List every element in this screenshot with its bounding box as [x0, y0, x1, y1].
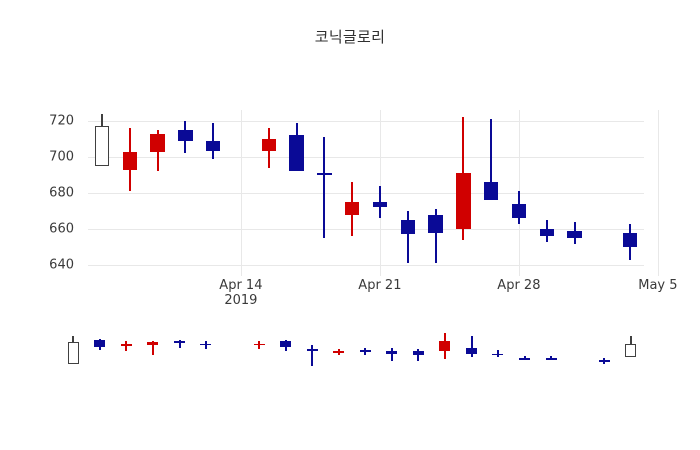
lower-candlestick-panel: [60, 320, 644, 376]
candle-body: [150, 134, 165, 152]
candle-body: [68, 342, 79, 363]
candle-body: [345, 202, 360, 215]
candle-body: [599, 360, 610, 362]
y-gridline: [88, 157, 644, 158]
candle-body: [178, 130, 193, 141]
candle-body: [262, 139, 277, 152]
candle-wick: [391, 348, 393, 361]
candle-body: [519, 358, 530, 360]
candle-body: [466, 348, 477, 354]
candle-body: [456, 173, 471, 229]
x-tick-label: Apr 28: [497, 278, 540, 293]
candle-body: [546, 358, 557, 360]
candle-body: [206, 141, 221, 152]
y-tick-label: 640: [49, 258, 74, 273]
candle-wick: [323, 137, 325, 238]
candle-wick: [471, 336, 473, 357]
page-title: 코닉글로리: [0, 26, 700, 47]
candle-body: [567, 231, 582, 238]
candle-body: [439, 341, 450, 351]
candle-body: [540, 229, 555, 236]
x-axis-labels: Apr 142019Apr 21Apr 28May 5: [88, 278, 644, 314]
candle-body: [95, 126, 110, 166]
candlestick-chart: 코닉글로리 640660680700720 Apr 142019Apr 21Ap…: [0, 0, 700, 450]
candle-body: [289, 135, 304, 171]
y-tick-label: 700: [49, 149, 74, 164]
candle-body: [123, 152, 138, 170]
candle-body: [147, 342, 158, 344]
candle-body: [413, 351, 424, 354]
candle-body: [484, 182, 499, 200]
main-price-panel: [88, 110, 644, 276]
candle-body: [307, 349, 318, 351]
candle-wick: [205, 341, 207, 349]
y-gridline: [88, 121, 644, 122]
candle-body: [623, 233, 638, 247]
y-gridline: [88, 193, 644, 194]
x-gridline: [658, 110, 659, 276]
candle-body: [360, 350, 371, 352]
candle-body: [174, 341, 185, 343]
candle-body: [373, 202, 388, 207]
y-axis-labels: 640660680700720: [0, 110, 82, 276]
y-tick-label: 720: [49, 113, 74, 128]
candle-body: [200, 344, 211, 346]
candle-body: [94, 340, 105, 347]
candle-body: [317, 173, 332, 175]
candle-body: [333, 351, 344, 353]
candle-wick: [311, 345, 313, 366]
candle-body: [401, 220, 416, 234]
candle-body: [492, 354, 503, 356]
candle-body: [254, 344, 265, 346]
y-tick-label: 660: [49, 222, 74, 237]
candle-body: [428, 215, 443, 233]
candle-wick: [258, 341, 260, 349]
x-tick-label: Apr 142019: [219, 278, 262, 308]
x-tick-label: Apr 21: [358, 278, 401, 293]
y-gridline: [88, 265, 644, 266]
candle-body: [625, 344, 636, 357]
candle-body: [386, 351, 397, 353]
x-tick-label: May 5: [638, 278, 677, 293]
y-gridline: [88, 229, 644, 230]
candle-wick: [407, 211, 409, 263]
x-gridline: [241, 110, 242, 276]
y-tick-label: 680: [49, 186, 74, 201]
candle-body: [512, 204, 527, 218]
candle-body: [280, 341, 291, 347]
candle-body: [121, 344, 132, 346]
x-tick-year: 2019: [219, 293, 262, 308]
